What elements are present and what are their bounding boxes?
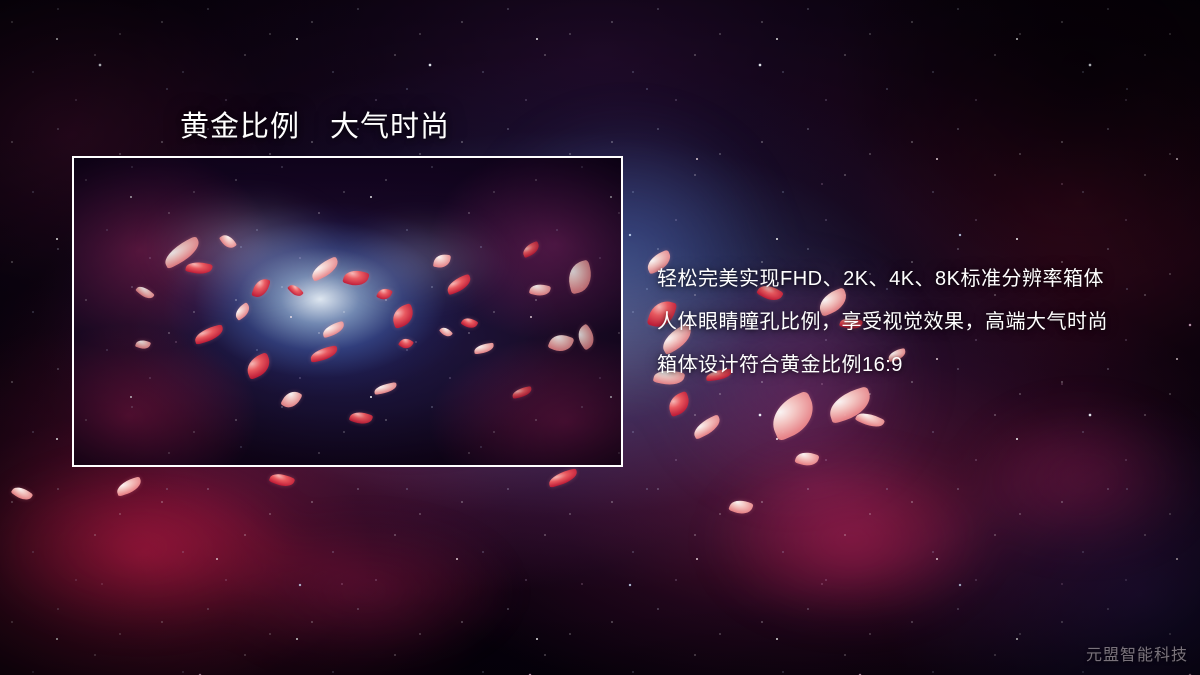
flower-petal-icon (160, 236, 203, 270)
flower-petal-icon (547, 331, 574, 356)
flower-petal-icon (511, 386, 532, 399)
flower-petal-icon (690, 414, 723, 440)
flower-petal-icon (251, 276, 270, 299)
flower-petal-icon (398, 336, 414, 352)
flower-petal-icon (565, 260, 596, 295)
flower-petal-icon (185, 259, 213, 276)
flower-petal-icon (389, 303, 416, 329)
preview-frame[interactable] (72, 156, 623, 467)
flower-petal-icon (445, 274, 474, 296)
flower-petal-icon (309, 345, 339, 363)
flower-petal-icon (135, 283, 155, 301)
preview-starfield-icon (74, 158, 621, 465)
page-title: 黄金比例 大气时尚 (180, 103, 450, 145)
flower-petal-icon (308, 256, 341, 282)
flower-petal-icon (765, 390, 822, 442)
preview-starfield-bright-icon (74, 158, 621, 465)
flower-petal-icon (269, 470, 296, 490)
flower-petal-icon (321, 321, 346, 339)
flower-petal-icon (219, 232, 237, 251)
body-line: 轻松完美实现FHD、2K、4K、8K标准分辨率箱体 (657, 258, 1177, 301)
preview-vignette (74, 158, 621, 465)
flower-petal-icon (461, 315, 479, 331)
flower-petal-icon (342, 267, 369, 289)
flower-petal-icon (665, 391, 693, 417)
flower-petal-icon (794, 449, 819, 469)
flower-petal-icon (373, 382, 397, 395)
flower-petal-icon (529, 282, 551, 298)
flower-petal-icon (433, 253, 451, 270)
body-line: 人体眼睛瞳孔比例，享受视觉效果，高端大气时尚 (657, 301, 1177, 344)
flower-petal-icon (573, 323, 599, 350)
flower-petal-icon (287, 282, 304, 299)
flower-petal-icon (243, 352, 274, 380)
flower-petal-icon (547, 468, 579, 488)
flower-petal-icon (521, 241, 542, 258)
flower-petal-icon (280, 388, 302, 412)
flower-petal-icon (376, 286, 393, 302)
flower-petal-icon (11, 483, 34, 503)
flower-petal-icon (728, 497, 753, 518)
watermark: 元盟智能科技 (1086, 641, 1188, 665)
slide-canvas: 黄金比例 大气时尚 轻松完美实现FHD、2K、4K、8K标准分辨率箱体 人体眼睛… (0, 0, 1200, 675)
nebula-wisp-lower-right (620, 400, 1200, 675)
body-line: 箱体设计符合黄金比例16:9 (657, 344, 1177, 387)
flower-petal-icon (349, 409, 374, 427)
preview-nebula-wisp (118, 195, 577, 410)
flower-petal-icon (439, 325, 453, 339)
body-copy: 轻松完美实现FHD、2K、4K、8K标准分辨率箱体 人体眼睛瞳孔比例，享受视觉效… (657, 258, 1177, 387)
flower-petal-icon (135, 338, 151, 351)
flower-petal-icon (115, 476, 144, 496)
flower-petal-icon (473, 343, 494, 355)
flower-petal-icon (825, 386, 875, 424)
flower-petal-icon (855, 409, 885, 431)
flower-petal-icon (232, 302, 252, 321)
preview-nebula-background (74, 158, 621, 465)
flower-petal-icon (193, 324, 225, 345)
